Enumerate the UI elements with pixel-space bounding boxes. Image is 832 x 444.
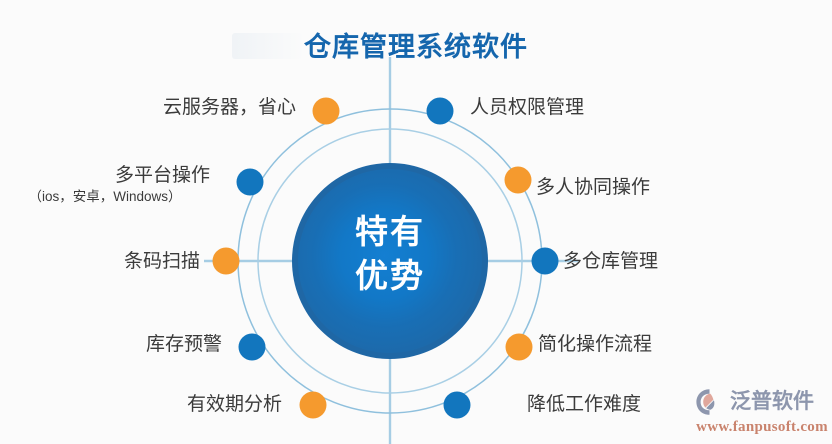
feature-dot-stock-alert[interactable] xyxy=(239,334,266,361)
feature-label-barcode-scan[interactable]: 条码扫描 xyxy=(0,249,200,274)
brand-url: www.fanpusoft.com xyxy=(694,419,830,436)
feature-label-text: 条码扫描 xyxy=(124,251,200,272)
feature-label-multi-user-ops[interactable]: 多人协同操作 xyxy=(536,175,650,200)
feature-label-text: 有效期分析 xyxy=(187,394,282,415)
feature-label-text: 多人协同操作 xyxy=(536,177,650,198)
brand-name: 泛普软件 xyxy=(730,387,814,417)
feature-label-text: 简化操作流程 xyxy=(538,334,652,355)
feature-label-text: 多仓库管理 xyxy=(563,251,658,272)
feature-dot-multi-user-ops[interactable] xyxy=(505,167,532,194)
infographic-canvas: 仓库管理系统软件 xyxy=(0,0,832,444)
feature-label-text: 降低工作难度 xyxy=(527,394,641,415)
feature-dot-simplified-workflow[interactable] xyxy=(506,334,533,361)
fanpu-logo-icon xyxy=(694,387,728,417)
feature-label-text: 库存预警 xyxy=(146,334,222,355)
feature-dot-expiry-analysis[interactable] xyxy=(300,392,327,419)
feature-label-reduce-difficulty[interactable]: 降低工作难度 xyxy=(527,392,641,417)
feature-dot-multi-warehouse[interactable] xyxy=(532,248,559,275)
feature-label-cloud-server[interactable]: 云服务器，省心 xyxy=(0,95,296,120)
feature-label-user-permissions[interactable]: 人员权限管理 xyxy=(470,95,584,120)
radial-feature-diagram xyxy=(0,0,832,444)
feature-label-text: 云服务器，省心 xyxy=(163,97,296,118)
brand-logo[interactable]: 泛普软件 www.fanpusoft.com xyxy=(694,386,830,438)
feature-label-stock-alert[interactable]: 库存预警 xyxy=(0,332,222,357)
feature-label-simplified-workflow[interactable]: 简化操作流程 xyxy=(538,332,652,357)
feature-dot-user-permissions[interactable] xyxy=(427,98,454,125)
core-circle-glow xyxy=(298,169,482,353)
feature-label-expiry-analysis[interactable]: 有效期分析 xyxy=(0,392,282,417)
feature-label-text: 多平台操作 xyxy=(115,165,210,186)
feature-dot-multi-platform[interactable] xyxy=(237,169,264,196)
feature-label-subtext: （ios，安卓，Windows） xyxy=(0,188,210,206)
feature-label-multi-warehouse[interactable]: 多仓库管理 xyxy=(563,249,658,274)
feature-dot-barcode-scan[interactable] xyxy=(213,248,240,275)
feature-dot-reduce-difficulty[interactable] xyxy=(444,392,471,419)
feature-label-multi-platform[interactable]: 多平台操作 （ios，安卓，Windows） xyxy=(0,163,210,206)
feature-dot-cloud-server[interactable] xyxy=(313,98,340,125)
feature-label-text: 人员权限管理 xyxy=(470,97,584,118)
